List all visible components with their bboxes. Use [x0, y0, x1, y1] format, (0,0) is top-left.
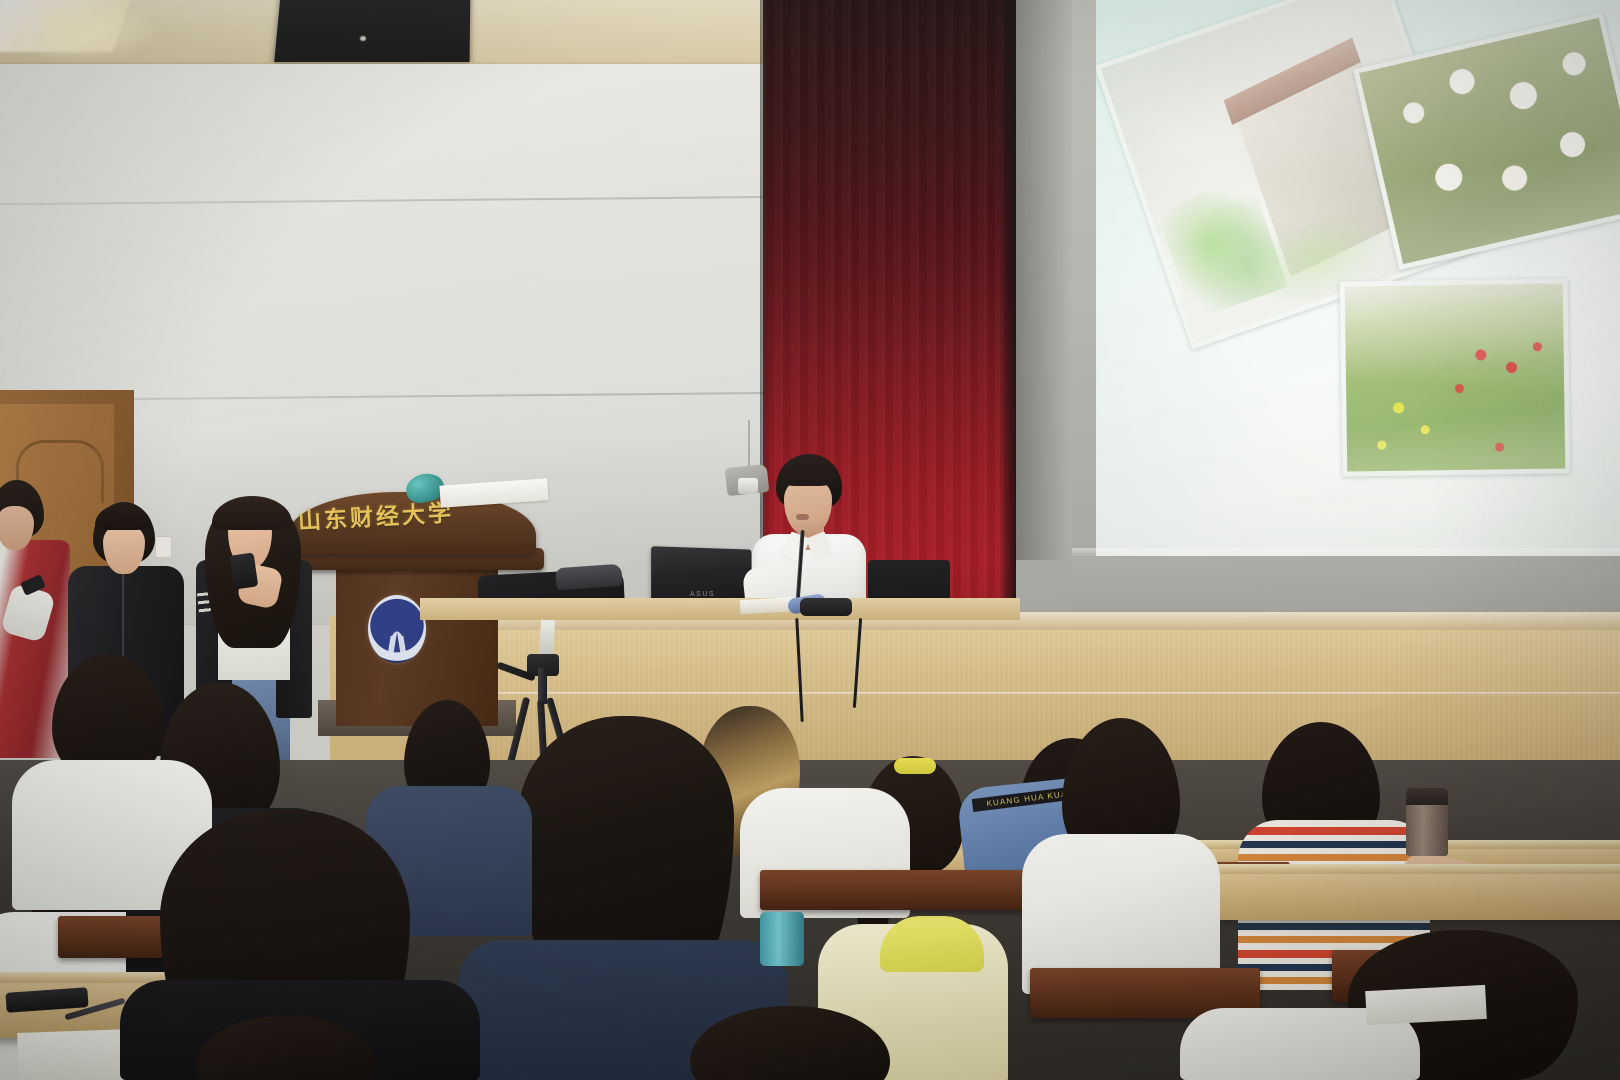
tripod-column [538, 668, 547, 704]
desk-row-middle [1170, 870, 1620, 920]
speaker-led-icon [360, 36, 366, 41]
hoodie-zipper [122, 574, 124, 664]
smartphone-icon [230, 552, 258, 589]
teal-cup [760, 912, 804, 966]
wall-outlet [155, 536, 172, 558]
stage-panel-seam [418, 692, 1620, 695]
yellow-collar [880, 916, 984, 972]
presenter-mouth [796, 514, 809, 520]
hair-tie-icon [894, 758, 936, 774]
ceiling-light-glow [40, 8, 160, 62]
bench-row-middle [760, 870, 1060, 910]
wall-mount-lamp [738, 478, 758, 494]
notebook-paper [1365, 985, 1487, 1025]
projection-screen-vignette [1096, 0, 1620, 556]
stage-table-top [420, 598, 1020, 620]
curtain-left-edge [760, 0, 769, 622]
thermos-lid [1406, 788, 1448, 805]
microphone-base [800, 598, 852, 616]
hanging-wire [748, 420, 750, 470]
bag-on-table [555, 564, 622, 591]
projection-screen-bottom-border [1072, 556, 1620, 618]
projection-screen-left-border [1016, 0, 1072, 560]
ceiling-speaker [274, 0, 471, 66]
desk-edge [1170, 864, 1620, 874]
lecture-hall-photo: 山东财经大学 ASUS FAT AND BOLD [0, 0, 1620, 1080]
